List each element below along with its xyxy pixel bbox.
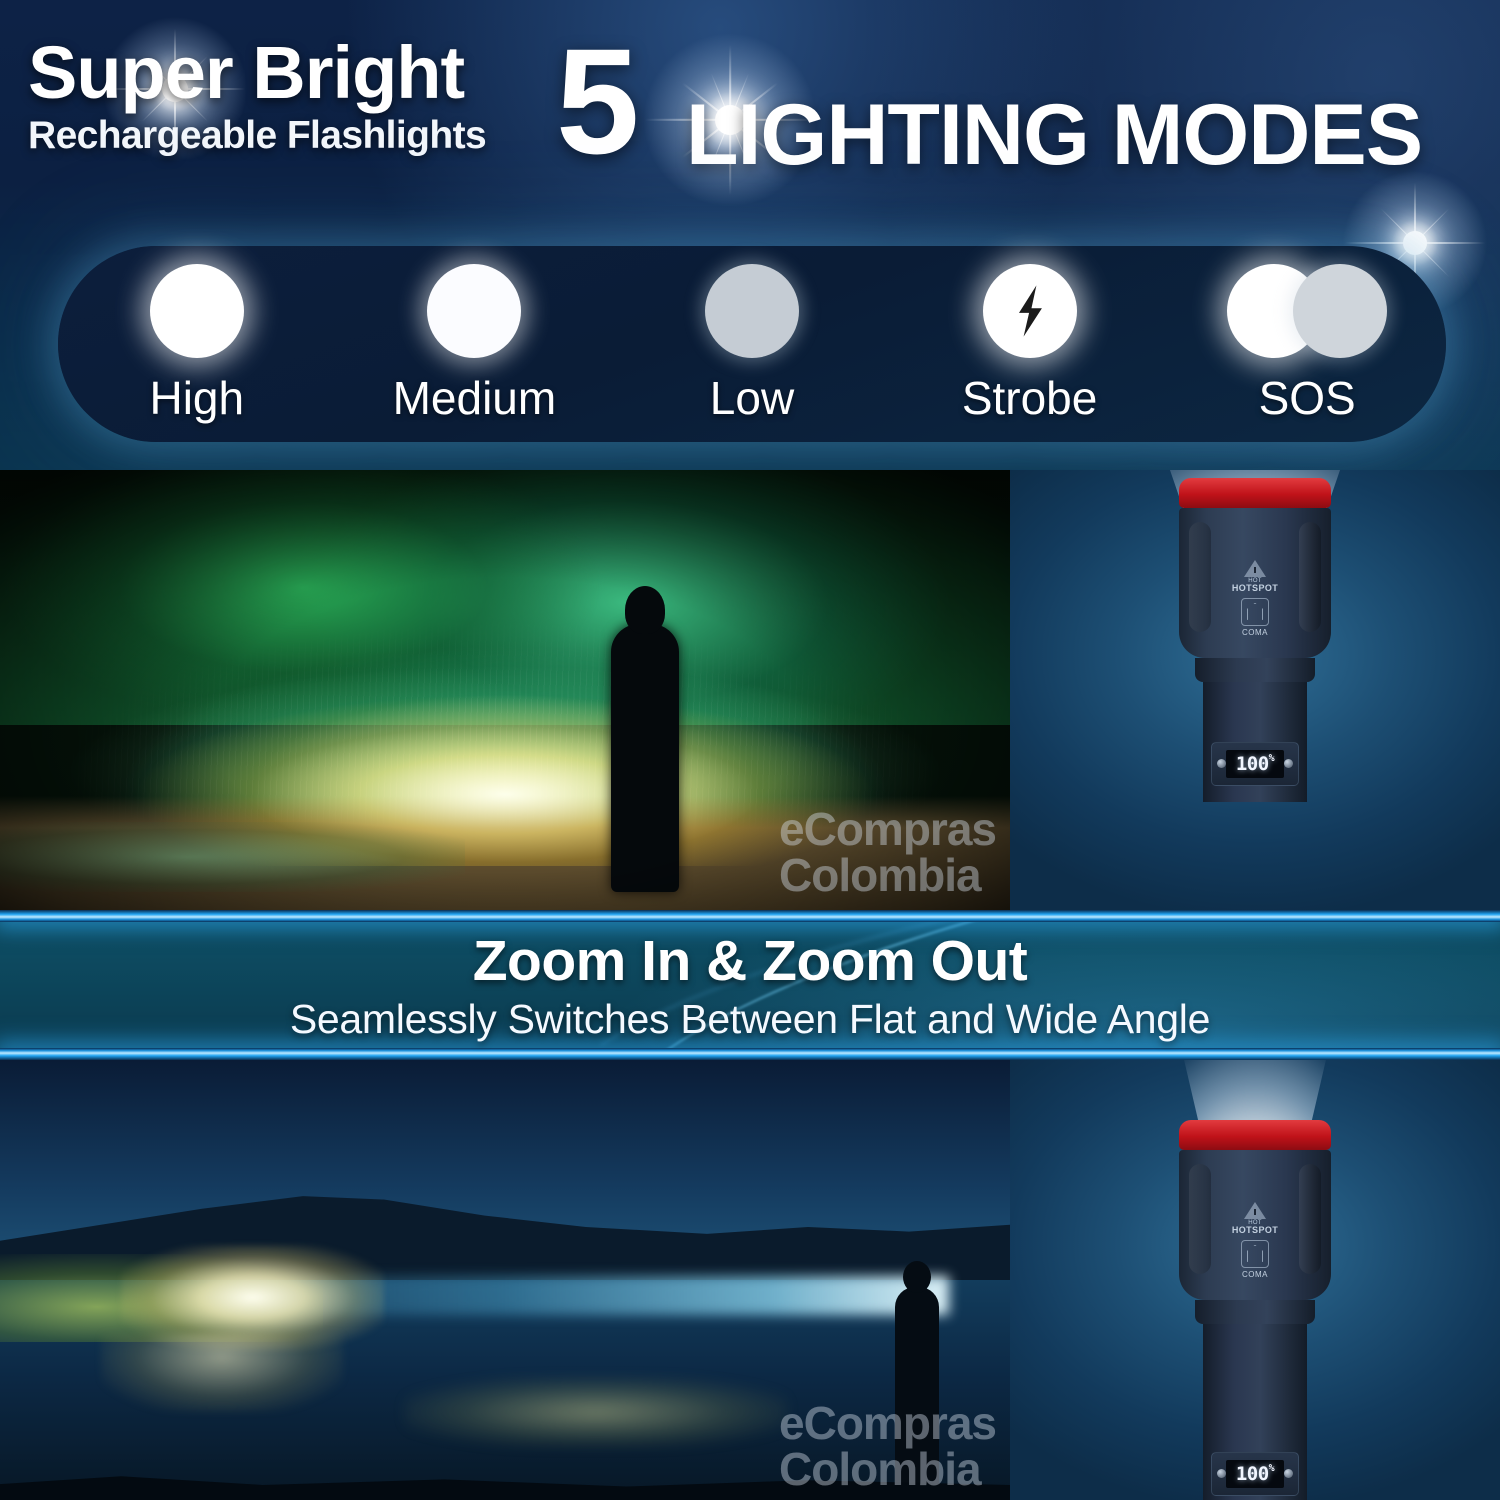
mode-label-high: High <box>149 371 244 425</box>
battery-percent-value: 100 <box>1236 753 1269 775</box>
mode-label-medium: Medium <box>393 371 557 425</box>
forest-beam-photo: eCompras Colombia <box>0 470 1010 910</box>
bulb-low-icon <box>705 263 799 359</box>
banner-glow-bottom <box>0 1048 1500 1060</box>
modes-headline: LIGHTING MODES <box>686 92 1422 178</box>
flashlight-head-2: HOT HOTSPOT COMA <box>1179 1150 1331 1300</box>
warning-triangle-icon-2 <box>1244 1202 1266 1219</box>
page-title: Super Bright <box>28 38 558 108</box>
label-hotspot: HOTSPOT <box>1218 584 1292 594</box>
house-icon-2 <box>1241 1240 1269 1268</box>
battery-percent-value-2: 100 <box>1236 1463 1269 1485</box>
battery-percent-unit: % <box>1269 753 1275 764</box>
flashlight-focused-beam-photo: HOT HOTSPOT COMA 100% ⚡ <box>1010 1060 1500 1500</box>
lake-beam-photo: eCompras Colombia <box>0 1060 1010 1500</box>
mode-label-sos: SOS <box>1259 371 1356 425</box>
battery-display-bottom: 100% <box>1211 1452 1299 1496</box>
page-subtitle: Rechargeable Flashlights <box>28 114 558 159</box>
bezel-ring <box>1179 478 1331 508</box>
house-icon <box>1241 598 1269 626</box>
zoom-feature-banner: Zoom In & Zoom Out Seamlessly Switches B… <box>0 910 1500 1060</box>
battery-percent-unit-2: % <box>1269 1463 1275 1474</box>
label-coma-2: COMA <box>1218 1270 1292 1279</box>
mode-item-high[interactable]: High <box>58 246 336 442</box>
header-title-block: Super Bright Rechargeable Flashlights <box>28 38 558 159</box>
mode-item-sos[interactable]: SOS <box>1168 246 1446 442</box>
flashlight-wide-beam-photo: HOT HOTSPOT COMA 100% <box>1010 470 1500 910</box>
mode-item-medium[interactable]: Medium <box>336 246 614 442</box>
person-silhouette-2 <box>895 1287 939 1487</box>
mode-item-low[interactable]: Low <box>613 246 891 442</box>
header-section: Super Bright Rechargeable Flashlights 5 … <box>0 0 1500 470</box>
mode-item-strobe[interactable]: Strobe <box>891 246 1169 442</box>
double-bulb-icon <box>1227 263 1387 359</box>
warning-triangle-icon <box>1244 560 1266 577</box>
lightning-bolt-icon <box>983 263 1077 359</box>
product-markings: HOT HOTSPOT COMA <box>1218 560 1292 637</box>
flashlight-head: HOT HOTSPOT COMA <box>1179 508 1331 658</box>
flashlight-product-top: HOT HOTSPOT COMA 100% <box>1179 478 1331 802</box>
banner-subtitle: Seamlessly Switches Between Flat and Wid… <box>0 996 1500 1043</box>
product-markings-2: HOT HOTSPOT COMA <box>1218 1202 1292 1279</box>
label-coma: COMA <box>1218 628 1292 637</box>
banner-title: Zoom In & Zoom Out <box>0 928 1500 994</box>
mode-label-low: Low <box>710 371 794 425</box>
bulb-full-icon <box>150 263 244 359</box>
mode-label-strobe: Strobe <box>962 371 1098 425</box>
lighting-modes-panel: High Medium Low <box>58 246 1446 442</box>
label-hotspot-2: HOTSPOT <box>1218 1226 1292 1236</box>
banner-glow-top <box>0 910 1500 922</box>
modes-count: 5 <box>556 26 639 176</box>
focused-beam-demo-row: eCompras Colombia HOT HOTSPOT COMA <box>0 1060 1500 1500</box>
battery-display-top: 100% <box>1211 742 1299 786</box>
flashlight-product-bottom: HOT HOTSPOT COMA 100% ⚡ <box>1179 1120 1331 1500</box>
product-infographic: Super Bright Rechargeable Flashlights 5 … <box>0 0 1500 1500</box>
wide-angle-demo-row: eCompras Colombia HOT HOTSPOT COMA <box>0 470 1500 910</box>
bulb-medium-icon <box>427 263 521 359</box>
bezel-ring-2 <box>1179 1120 1331 1150</box>
